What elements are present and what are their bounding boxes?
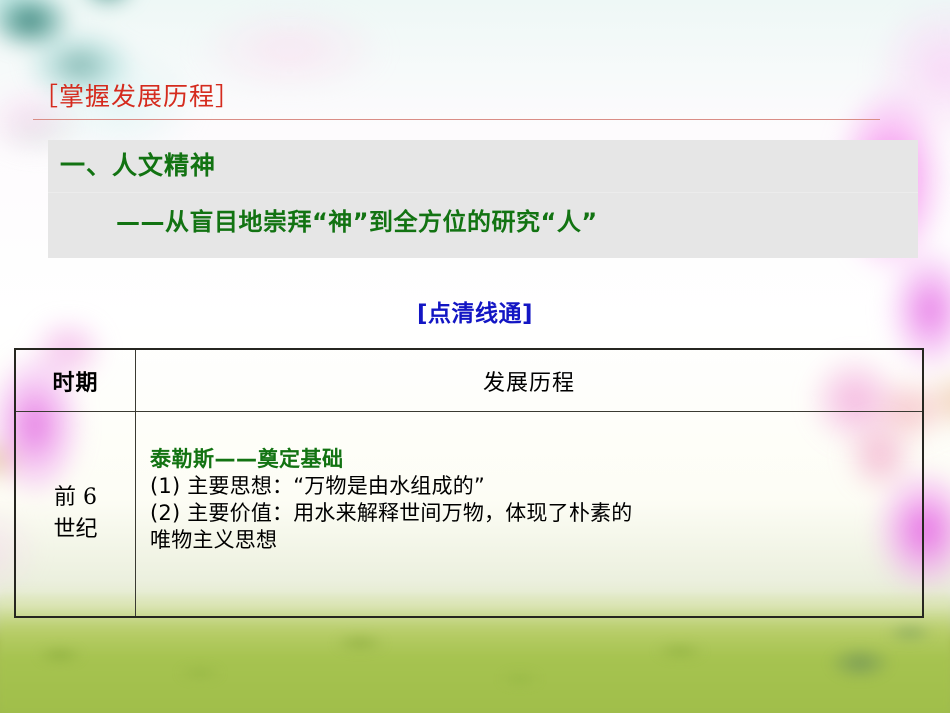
slide-content: ［掌握发展历程］ 一、人文精神 ——从盲目地崇拜“神”到全方位的研究“人” [点… <box>0 0 950 713</box>
section-title: ［掌握发展历程］ <box>33 84 241 109</box>
table-cell-period: 前 6 世纪 <box>16 412 135 616</box>
process-item-2: (2) 主要价值：用水来解释世间万物，体现了朴素的 <box>150 500 910 527</box>
process-item-1: (1) 主要思想：“万物是由水组成的” <box>150 473 914 500</box>
table-header-period: 时期 <box>16 350 135 411</box>
section-title-rule <box>33 119 880 120</box>
headline-main: 一、人文精神 <box>60 152 216 181</box>
table-cell-process: 泰勒斯——奠定基础 (1) 主要思想：“万物是由水组成的” (2) 主要价值：用… <box>136 412 922 616</box>
slide-canvas: ［掌握发展历程］ 一、人文精神 ——从盲目地崇拜“神”到全方位的研究“人” [点… <box>0 0 950 713</box>
headline-panel-divider <box>48 192 918 193</box>
headline-sub: ——从盲目地崇拜“神”到全方位的研究“人” <box>116 209 598 237</box>
blue-subheading: [点清线通] <box>0 294 950 328</box>
period-line-2: 世纪 <box>53 514 97 546</box>
table-header-process: 发展历程 <box>136 350 922 411</box>
period-line-1: 前 6 <box>53 482 97 514</box>
process-title: 泰勒斯——奠定基础 <box>150 446 914 473</box>
process-item-2-continued: 唯物主义思想 <box>150 527 914 554</box>
development-table: 时期 发展历程 前 6 世纪 泰勒斯——奠定基础 (1) 主要思想：“万物是由水… <box>14 348 924 618</box>
